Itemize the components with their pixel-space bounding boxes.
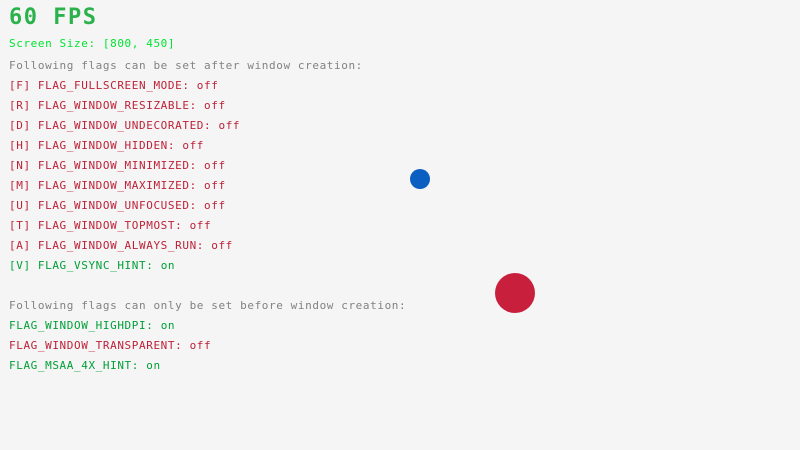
flag-name: FLAG_WINDOW_UNFOCUSED:	[38, 199, 204, 212]
flag-name: FLAG_WINDOW_HIDDEN:	[38, 139, 182, 152]
fps-counter: 60 FPS	[9, 7, 97, 29]
screen-size-label: Screen Size: [800, 450]	[9, 38, 175, 49]
flag-row[interactable]: FLAG_WINDOW_HIGHDPI: on	[9, 320, 175, 331]
section-header-before-creation: Following flags can only be set before w…	[9, 300, 406, 311]
flag-value: off	[197, 79, 219, 92]
flag-value: off	[204, 179, 226, 192]
flag-key: [U]	[9, 199, 38, 212]
flag-name: FLAG_WINDOW_TOPMOST:	[38, 219, 190, 232]
flag-key: [M]	[9, 179, 38, 192]
flag-name: FLAG_WINDOW_MAXIMIZED:	[38, 179, 204, 192]
flag-value: off	[204, 99, 226, 112]
flag-value: on	[161, 259, 175, 272]
flag-name: FLAG_WINDOW_ALWAYS_RUN:	[38, 239, 211, 252]
flag-value: off	[204, 159, 226, 172]
raylib-window: 60 FPS Screen Size: [800, 450] Following…	[0, 0, 800, 450]
flag-row[interactable]: [D] FLAG_WINDOW_UNDECORATED: off	[9, 120, 240, 131]
flag-key: [F]	[9, 79, 38, 92]
flag-row[interactable]: [U] FLAG_WINDOW_UNFOCUSED: off	[9, 200, 226, 211]
flag-key: [D]	[9, 119, 38, 132]
section-header-after-creation: Following flags can be set after window …	[9, 60, 363, 71]
flag-value: on	[146, 359, 160, 372]
flag-name: FLAG_WINDOW_MINIMIZED:	[38, 159, 204, 172]
flag-row[interactable]: FLAG_WINDOW_TRANSPARENT: off	[9, 340, 211, 351]
flag-row[interactable]: [M] FLAG_WINDOW_MAXIMIZED: off	[9, 180, 226, 191]
flag-name: FLAG_WINDOW_RESIZABLE:	[38, 99, 204, 112]
flag-row[interactable]: [A] FLAG_WINDOW_ALWAYS_RUN: off	[9, 240, 233, 251]
flag-key: [N]	[9, 159, 38, 172]
flag-row[interactable]: [R] FLAG_WINDOW_RESIZABLE: off	[9, 100, 226, 111]
flag-row[interactable]: FLAG_MSAA_4X_HINT: on	[9, 360, 161, 371]
flag-value: off	[190, 219, 212, 232]
flag-value: off	[218, 119, 240, 132]
flag-value: off	[204, 199, 226, 212]
flag-row[interactable]: [T] FLAG_WINDOW_TOPMOST: off	[9, 220, 211, 231]
flag-row[interactable]: [H] FLAG_WINDOW_HIDDEN: off	[9, 140, 204, 151]
flag-name: FLAG_FULLSCREEN_MODE:	[38, 79, 197, 92]
flag-key: [T]	[9, 219, 38, 232]
flag-name: FLAG_WINDOW_TRANSPARENT:	[9, 339, 190, 352]
flag-name: FLAG_MSAA_4X_HINT:	[9, 359, 146, 372]
flag-name: FLAG_WINDOW_UNDECORATED:	[38, 119, 219, 132]
flag-key: [A]	[9, 239, 38, 252]
flag-value: off	[211, 239, 233, 252]
flag-name: FLAG_WINDOW_HIGHDPI:	[9, 319, 161, 332]
flag-row[interactable]: [N] FLAG_WINDOW_MINIMIZED: off	[9, 160, 226, 171]
flag-row[interactable]: [F] FLAG_FULLSCREEN_MODE: off	[9, 80, 218, 91]
flag-value: off	[190, 339, 212, 352]
blue-ball	[410, 169, 430, 189]
flag-name: FLAG_VSYNC_HINT:	[38, 259, 161, 272]
flag-key: [V]	[9, 259, 38, 272]
flag-value: off	[182, 139, 204, 152]
flag-key: [H]	[9, 139, 38, 152]
red-ball	[495, 273, 535, 313]
flag-value: on	[161, 319, 175, 332]
flag-key: [R]	[9, 99, 38, 112]
flag-row[interactable]: [V] FLAG_VSYNC_HINT: on	[9, 260, 175, 271]
